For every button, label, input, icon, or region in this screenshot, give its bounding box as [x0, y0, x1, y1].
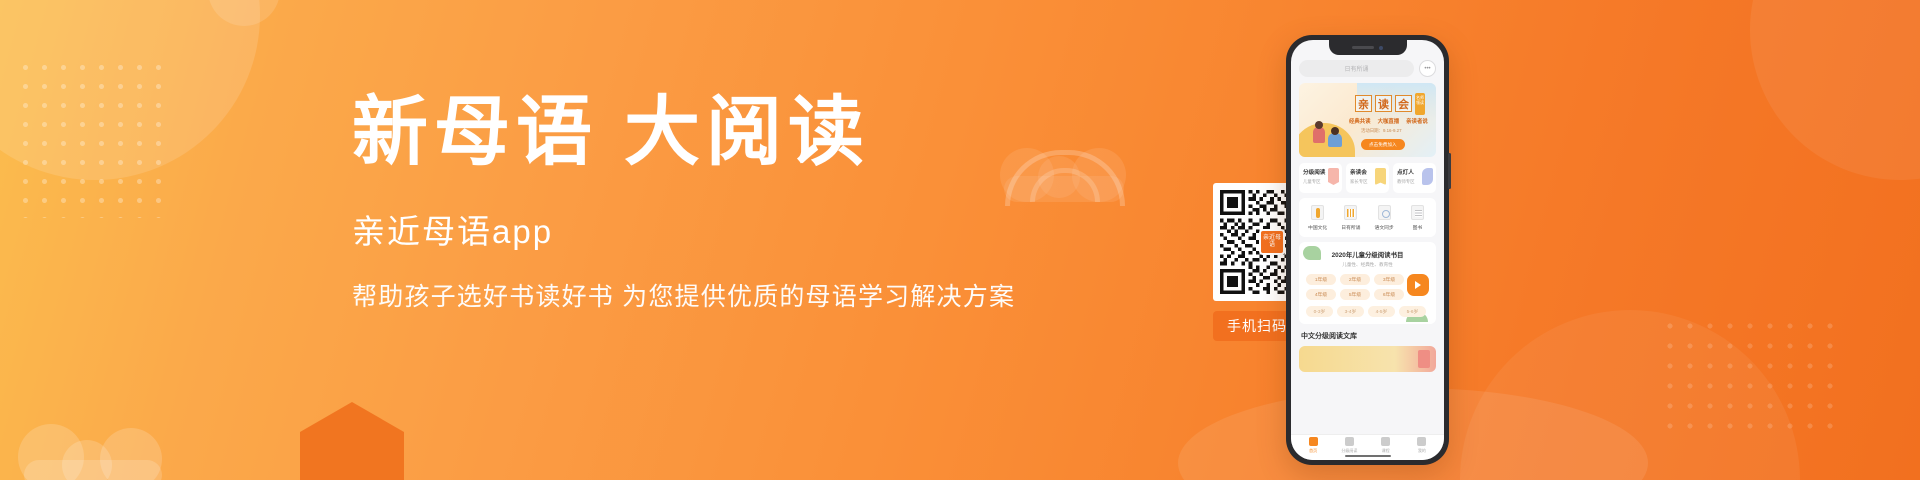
- decorative-swirl-outer: [1005, 150, 1125, 206]
- leaf-icon-top: [1303, 246, 1321, 260]
- phone-mockup: 日有所诵 ••• 亲 读 会 名师领读 经典共读: [1286, 35, 1449, 465]
- grade-chip[interactable]: 6年级: [1374, 289, 1404, 300]
- bookmark-icon: [1328, 168, 1339, 185]
- promo-title-char-1: 亲: [1355, 95, 1372, 112]
- promo-card[interactable]: 亲 读 会 名师领读 经典共读 大咖直播 亲读者说 活动日期：9.16-9.27…: [1299, 83, 1436, 157]
- ellipsis-icon[interactable]: •••: [1419, 60, 1436, 77]
- reading-icon: [1345, 437, 1354, 446]
- search-input[interactable]: 日有所诵: [1299, 60, 1414, 77]
- decorative-dot-grid-left: [16, 58, 168, 218]
- age-chip[interactable]: 5-6岁: [1399, 306, 1426, 317]
- promo-sub-item-2: 大咖直播: [1378, 117, 1400, 125]
- library-section-title: 中文分级阅读文库: [1299, 331, 1436, 341]
- course-icon: [1381, 437, 1390, 446]
- promo-sub-item-3: 亲读者说: [1406, 117, 1428, 125]
- grade-chip[interactable]: 3年级: [1374, 274, 1404, 285]
- age-chip[interactable]: 4-5岁: [1368, 306, 1395, 317]
- tab-home[interactable]: 首页: [1295, 437, 1331, 454]
- promo-tag-badge: 名师领读: [1415, 93, 1425, 115]
- banner-description: 帮助孩子选好书读好书 为您提供优质的母语学习解决方案: [352, 280, 1012, 314]
- booklist-title: 2020年儿童分级阅读书目: [1306, 250, 1429, 259]
- book-icon: [1411, 205, 1424, 220]
- promo-hill-art: [1299, 123, 1355, 157]
- quick-icon-label: 中国文化: [1308, 224, 1327, 231]
- promo-child-illustration-2: [1328, 133, 1342, 147]
- booklist-subtitle: 儿童性、经典性、教育性: [1306, 262, 1429, 268]
- cloud-icon-center: [1000, 140, 1130, 202]
- cloud-icon-bottom-left: [18, 420, 168, 480]
- quick-icon-culture[interactable]: 中国文化: [1301, 205, 1334, 231]
- grade-chip[interactable]: 5年级: [1340, 289, 1370, 300]
- headline-part-two: 大阅读: [624, 91, 870, 175]
- promo-child-illustration-1: [1313, 127, 1325, 143]
- quick-icon-row: 中国文化 日有所诵 语文同步 图书: [1299, 198, 1436, 237]
- tab-label: 课程: [1382, 448, 1390, 454]
- tile-parent-club[interactable]: 亲读会 家长专区: [1346, 163, 1389, 193]
- tile-graded-reading[interactable]: 分级阅读 儿童专区: [1299, 163, 1342, 193]
- app-search-row: 日有所诵 •••: [1299, 60, 1436, 77]
- decorative-circle-small: [208, 0, 280, 26]
- recite-icon: [1344, 205, 1357, 220]
- promo-banner: 新母语大阅读 亲近母语app 帮助孩子选好书读好书 为您提供优质的母语学习解决方…: [0, 0, 1920, 480]
- quick-icon-label: 图书: [1413, 224, 1423, 231]
- grade-chip[interactable]: 1年级: [1306, 274, 1336, 285]
- sync-icon: [1378, 205, 1391, 220]
- phone-screen: 日有所诵 ••• 亲 读 会 名师领读 经典共读: [1291, 40, 1444, 460]
- promo-join-button[interactable]: 点击免费加入: [1361, 139, 1405, 150]
- banner-subtitle: 亲近母语app: [352, 212, 1012, 252]
- decorative-circle-right-top: [1750, 0, 1920, 180]
- promo-date: 活动日期：9.16-9.27: [1361, 128, 1402, 134]
- home-indicator: [1345, 455, 1391, 458]
- tab-graded-reading[interactable]: 分级阅读: [1331, 437, 1367, 454]
- quick-icon-sync[interactable]: 语文同步: [1368, 205, 1401, 231]
- booklist-card: 2020年儿童分级阅读书目 儿童性、经典性、教育性 1年级 2年级 3年级 4年…: [1299, 242, 1436, 324]
- tab-label: 分级阅读: [1341, 448, 1357, 454]
- camera-icon: [1379, 46, 1383, 50]
- tab-label: 我的: [1418, 448, 1426, 454]
- speaker-icon: [1352, 46, 1374, 49]
- tab-profile[interactable]: 我的: [1404, 437, 1440, 454]
- tab-courses[interactable]: 课程: [1368, 437, 1404, 454]
- age-chip[interactable]: 0-3岁: [1306, 306, 1333, 317]
- decorative-circle-right-bottom: [1460, 310, 1800, 480]
- promo-sub-item-1: 经典共读: [1349, 117, 1371, 125]
- profile-icon: [1417, 437, 1426, 446]
- phone-notch: [1329, 40, 1407, 55]
- library-card[interactable]: [1299, 346, 1436, 372]
- tile-teacher-zone[interactable]: 点灯人 教师专区: [1393, 163, 1436, 193]
- home-icon: [1309, 437, 1318, 446]
- quick-icon-recite[interactable]: 日有所诵: [1334, 205, 1367, 231]
- play-video-icon[interactable]: [1407, 274, 1429, 296]
- quick-icon-books[interactable]: 图书: [1401, 205, 1434, 231]
- age-chip-group: 0-3岁 3-4岁 4-5岁 5-6岁: [1306, 306, 1429, 317]
- decorative-hexagon: [300, 402, 404, 480]
- quick-icon-label: 日有所诵: [1341, 224, 1360, 231]
- promo-subtitle-list: 经典共读 大咖直播 亲读者说: [1349, 117, 1430, 125]
- promo-title-char-2: 读: [1375, 95, 1392, 112]
- grade-chip-group: 1年级 2年级 3年级 4年级 5年级 6年级: [1306, 274, 1429, 300]
- tab-label: 首页: [1309, 448, 1317, 454]
- promo-title-char-3: 会: [1395, 95, 1412, 112]
- decorative-swirl-inner: [1030, 168, 1100, 202]
- grade-chip[interactable]: 4年级: [1306, 289, 1336, 300]
- qr-center-logo: 亲近母语: [1259, 229, 1285, 255]
- quick-icon-label: 语文同步: [1375, 224, 1394, 231]
- lamp-icon: [1422, 168, 1433, 185]
- culture-icon: [1311, 205, 1324, 220]
- grade-chip[interactable]: 2年级: [1340, 274, 1370, 285]
- age-chip[interactable]: 3-4岁: [1337, 306, 1364, 317]
- banner-text-block: 新母语大阅读 亲近母语app 帮助孩子选好书读好书 为您提供优质的母语学习解决方…: [352, 90, 1012, 314]
- headline-part-one: 新母语: [352, 91, 598, 175]
- promo-title: 亲 读 会: [1355, 95, 1412, 112]
- decorative-dot-grid-right: [1660, 316, 1840, 436]
- banner-headline: 新母语大阅读: [352, 90, 1012, 176]
- category-tiles: 分级阅读 儿童专区 亲读会 家长专区 点灯人 教师专区: [1299, 163, 1436, 193]
- note-icon: [1375, 168, 1386, 185]
- decorative-circle-large: [0, 0, 260, 180]
